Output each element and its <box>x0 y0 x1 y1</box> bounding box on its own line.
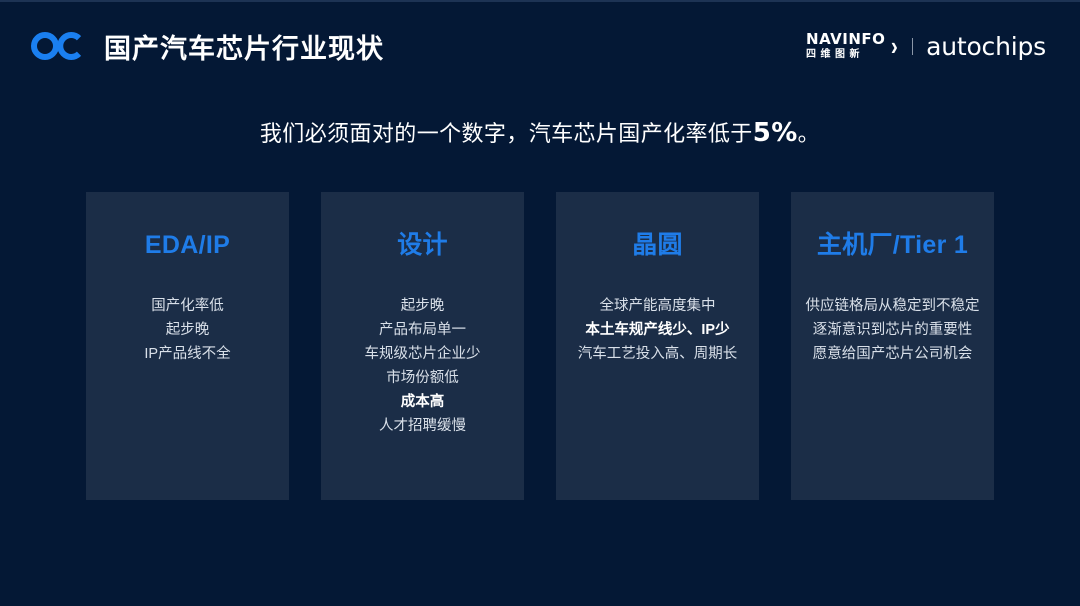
card-item: 起步晚 <box>321 294 524 318</box>
navinfo-cjk-text: 四维图新 <box>806 50 864 60</box>
card-item: 汽车工艺投入高、周期长 <box>556 342 759 366</box>
category-card: 晶圆全球产能高度集中本土车规产线少、IP少汽车工艺投入高、周期长 <box>556 192 759 500</box>
card-item-list: 国产化率低起步晚IP产品线不全 <box>86 294 289 366</box>
navinfo-latin-text: NAVINFO <box>806 32 885 47</box>
category-card: 主机厂/Tier 1供应链格局从稳定到不稳定逐渐意识到芯片的重要性愿意给国产芯片… <box>791 192 994 500</box>
page-title: 国产汽车芯片行业现状 <box>104 27 384 66</box>
card-item-list: 全球产能高度集中本土车规产线少、IP少汽车工艺投入高、周期长 <box>556 294 759 366</box>
card-item: 市场份额低 <box>321 366 524 390</box>
card-title: EDA/IP <box>86 230 289 260</box>
card-item-list: 起步晚产品布局单一车规级芯片企业少市场份额低成本高人才招聘缓慢 <box>321 294 524 438</box>
card-item: 产品布局单一 <box>321 318 524 342</box>
slide-header: 国产汽车芯片行业现状 NAVINFO 四维图新 › autochips <box>0 2 1080 90</box>
navinfo-wordmark: NAVINFO 四维图新 <box>806 32 885 60</box>
card-item: 逐渐意识到芯片的重要性 <box>791 318 994 342</box>
card-item: 愿意给国产芯片公司机会 <box>791 342 994 366</box>
subtitle: 我们必须面对的一个数字，汽车芯片国产化率低于5%。 <box>0 116 1080 148</box>
autochips-logo: autochips <box>926 32 1046 61</box>
logo-divider <box>912 38 913 55</box>
card-item: 车规级芯片企业少 <box>321 342 524 366</box>
card-item: 国产化率低 <box>86 294 289 318</box>
card-item: 全球产能高度集中 <box>556 294 759 318</box>
card-item: 起步晚 <box>86 318 289 342</box>
card-item: 供应链格局从稳定到不稳定 <box>791 294 994 318</box>
card-title: 晶圆 <box>556 230 759 260</box>
card-title: 主机厂/Tier 1 <box>791 230 994 260</box>
card-grid: EDA/IP国产化率低起步晚IP产品线不全设计起步晚产品布局单一车规级芯片企业少… <box>86 192 995 500</box>
card-item: 本土车规产线少、IP少 <box>556 318 759 342</box>
card-item: 人才招聘缓慢 <box>321 414 524 438</box>
partner-logos: NAVINFO 四维图新 › autochips <box>806 32 1046 61</box>
subtitle-lead: 我们必须面对的一个数字，汽车芯片国产化率低于 <box>260 121 753 146</box>
navinfo-logo: NAVINFO 四维图新 › <box>806 32 899 60</box>
card-item: 成本高 <box>321 390 524 414</box>
oc-monogram-icon <box>30 31 88 61</box>
chevron-right-icon: › <box>891 33 898 59</box>
subtitle-tail: 。 <box>798 121 820 146</box>
card-item-list: 供应链格局从稳定到不稳定逐渐意识到芯片的重要性愿意给国产芯片公司机会 <box>791 294 994 366</box>
subtitle-emphasis: 5% <box>753 118 798 148</box>
category-card: EDA/IP国产化率低起步晚IP产品线不全 <box>86 192 289 500</box>
category-card: 设计起步晚产品布局单一车规级芯片企业少市场份额低成本高人才招聘缓慢 <box>321 192 524 500</box>
card-title: 设计 <box>321 230 524 260</box>
card-item: IP产品线不全 <box>86 342 289 366</box>
